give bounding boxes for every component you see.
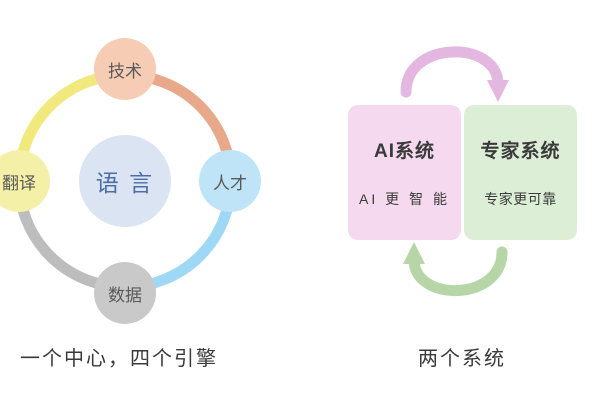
node-tech: 技术 (94, 38, 156, 100)
node-data-label: 数据 (108, 281, 142, 306)
caption-left: 一个中心，四个引擎 (20, 342, 218, 371)
node-center: 语 言 (79, 135, 171, 227)
bottom-arrow-icon (403, 242, 502, 291)
diagram-canvas: 语 言 技术 人才 数据 翻译 (0, 0, 600, 400)
node-talent: 人才 (199, 150, 261, 212)
box-expert-subtitle: 专家更可靠 (484, 189, 557, 209)
caption-right: 两个系统 (418, 342, 506, 371)
box-ai-subtitle: AI 更 智 能 (359, 189, 450, 209)
node-talent-label: 人才 (213, 169, 247, 194)
node-data: 数据 (94, 262, 156, 324)
box-expert-title: 专家系统 (480, 136, 560, 163)
left-diagram: 语 言 技术 人才 数据 翻译 (0, 10, 300, 330)
box-ai-title: AI系统 (374, 136, 435, 163)
box-ai-system: AI系统 AI 更 智 能 (348, 105, 461, 240)
right-diagram: AI系统 AI 更 智 能 专家系统 专家更可靠 (330, 10, 590, 330)
box-expert-system: 专家系统 专家更可靠 (464, 105, 577, 240)
node-center-label: 语 言 (96, 164, 154, 198)
node-translate-label: 翻译 (2, 169, 36, 194)
top-arrow-icon (406, 52, 509, 102)
node-tech-label: 技术 (108, 57, 142, 82)
